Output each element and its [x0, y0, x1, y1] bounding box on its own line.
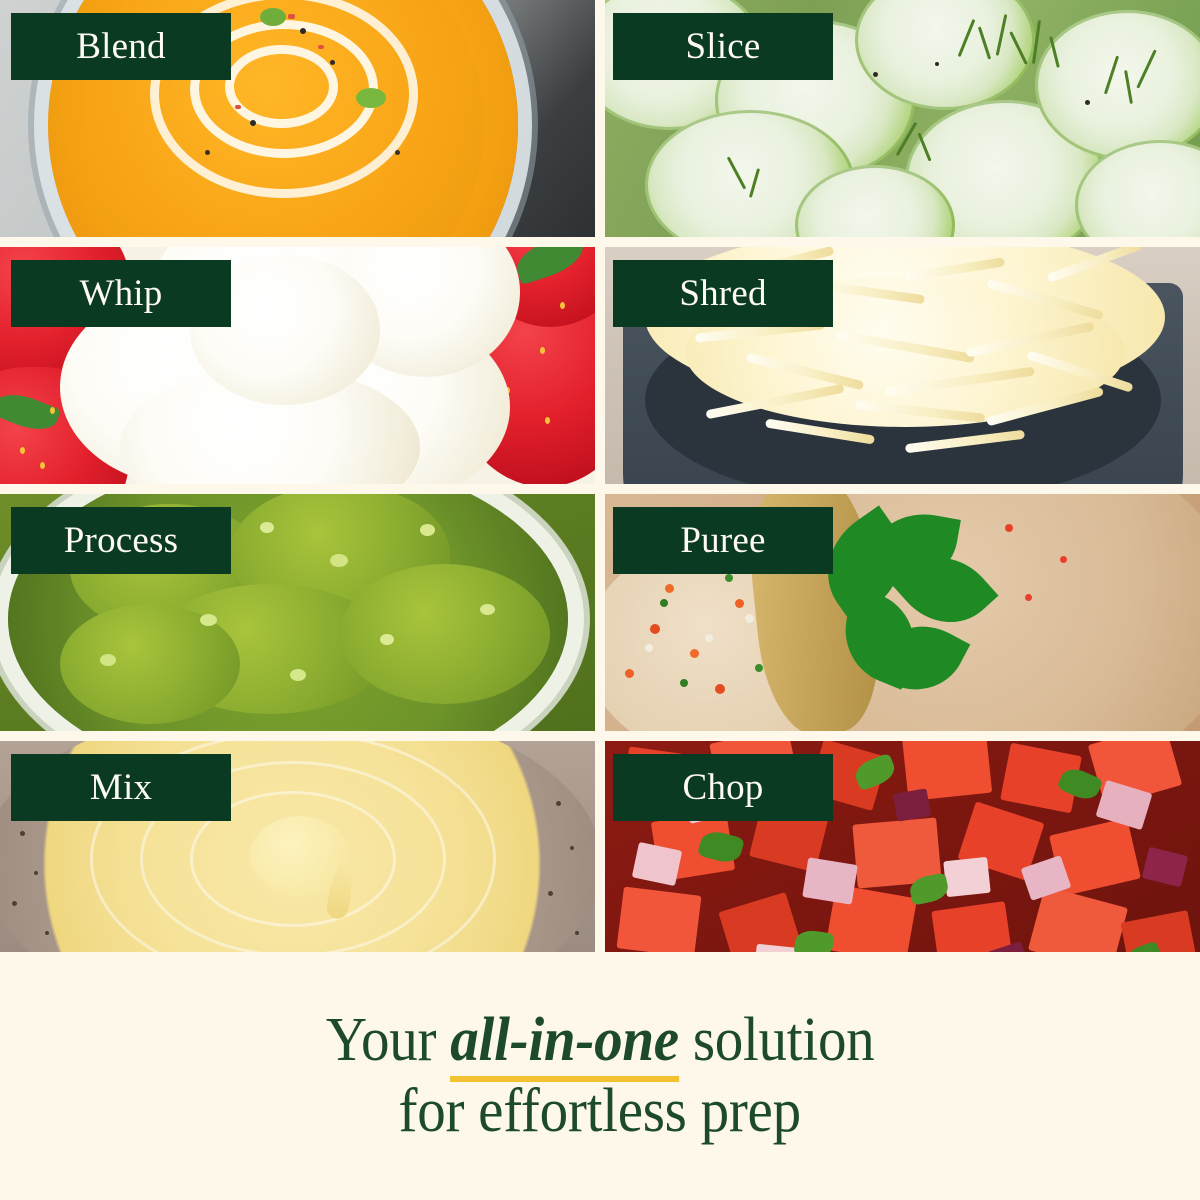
label-chop: Chop	[613, 754, 833, 821]
label-mix: Mix	[11, 754, 231, 821]
label-shred: Shred	[613, 260, 833, 327]
label-process-text: Process	[64, 522, 178, 559]
tile-whip[interactable]: Whip	[0, 247, 595, 484]
tagline-emphasis: all-in-one	[450, 1006, 679, 1082]
promo-collage: Blend	[0, 0, 1200, 1200]
label-shred-text: Shred	[679, 275, 766, 312]
label-puree: Puree	[613, 507, 833, 574]
food-action-grid: Blend	[0, 0, 1200, 948]
label-blend-text: Blend	[76, 28, 165, 65]
label-whip-text: Whip	[79, 275, 162, 312]
tile-chop[interactable]: Chop	[605, 741, 1200, 978]
label-blend: Blend	[11, 13, 231, 80]
tile-mix[interactable]: Mix	[0, 741, 595, 978]
tile-shred[interactable]: Shred	[605, 247, 1200, 484]
label-puree-text: Puree	[680, 522, 765, 559]
label-slice: Slice	[613, 13, 833, 80]
label-chop-text: Chop	[683, 769, 764, 806]
tile-process[interactable]: Process	[0, 494, 595, 731]
label-whip: Whip	[11, 260, 231, 327]
tile-puree[interactable]: Puree	[605, 494, 1200, 731]
label-slice-text: Slice	[686, 28, 761, 65]
label-mix-text: Mix	[90, 769, 152, 806]
tile-slice[interactable]: Slice	[605, 0, 1200, 237]
tile-blend[interactable]: Blend	[0, 0, 595, 237]
label-process: Process	[11, 507, 231, 574]
tagline-line1-before: Your	[326, 1006, 450, 1074]
tagline-block: Your all-in-one solution for effortless …	[0, 952, 1200, 1200]
tagline-line-2: for effortless prep	[399, 1076, 801, 1147]
tagline-line1-after: solution	[679, 1006, 875, 1074]
tagline-line-1: Your all-in-one solution	[326, 1005, 875, 1076]
